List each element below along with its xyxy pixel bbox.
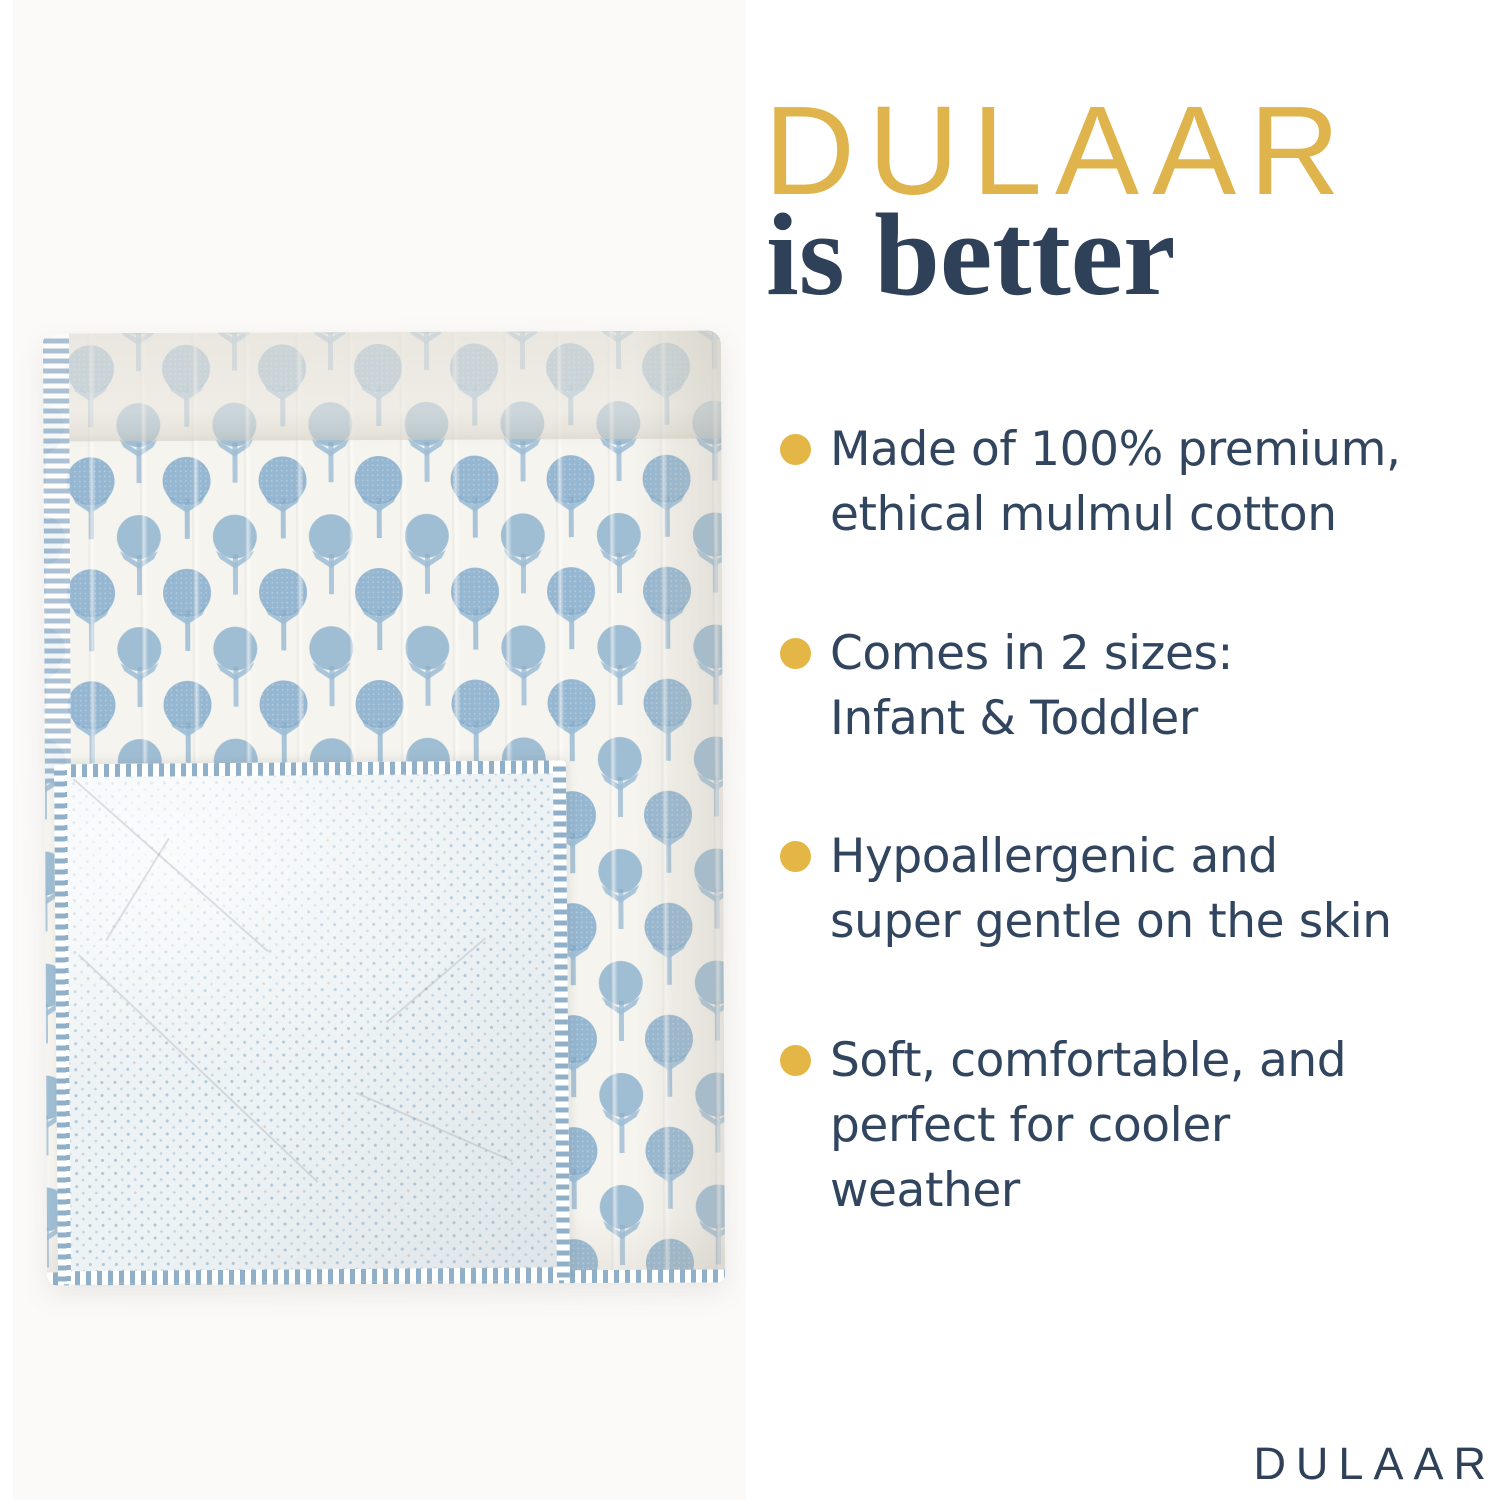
- list-item: Soft, comfortable, and perfect for coole…: [780, 1029, 1480, 1224]
- list-item: Hypoallergenic and super gentle on the s…: [780, 825, 1480, 955]
- benefit-text: Comes in 2 sizes: Infant & Toddler: [830, 622, 1233, 752]
- product-photo-panel: [0, 0, 746, 1500]
- bullet-dot-icon: [780, 841, 811, 872]
- photo-shading-top: [43, 331, 722, 454]
- bullet-dot-icon: [780, 638, 811, 669]
- footer-wordmark: DULAAR: [1253, 1438, 1496, 1490]
- quilt-reverse-side: [54, 760, 570, 1284]
- list-item: Comes in 2 sizes: Infant & Toddler: [780, 622, 1480, 752]
- photo-shading-right: [631, 331, 725, 1283]
- infographic-page: DULAAR is better Made of 100% premium, e…: [0, 0, 1500, 1500]
- benefit-text: Made of 100% premium, ethical mulmul cot…: [830, 418, 1401, 548]
- brand-tagline: is better: [766, 196, 1176, 314]
- list-item: Made of 100% premium, ethical mulmul cot…: [780, 418, 1480, 548]
- benefits-panel: DULAAR is better Made of 100% premium, e…: [746, 0, 1500, 1500]
- benefit-text: Soft, comfortable, and perfect for coole…: [830, 1029, 1346, 1224]
- striped-binding-left: [43, 333, 71, 783]
- benefit-text: Hypoallergenic and super gentle on the s…: [830, 825, 1392, 955]
- benefits-list: Made of 100% premium, ethical mulmul cot…: [780, 418, 1480, 1224]
- folded-quilt-image: [43, 331, 725, 1286]
- fabric-sheen: [54, 760, 570, 1284]
- bullet-dot-icon: [780, 1045, 811, 1076]
- bullet-dot-icon: [780, 434, 811, 465]
